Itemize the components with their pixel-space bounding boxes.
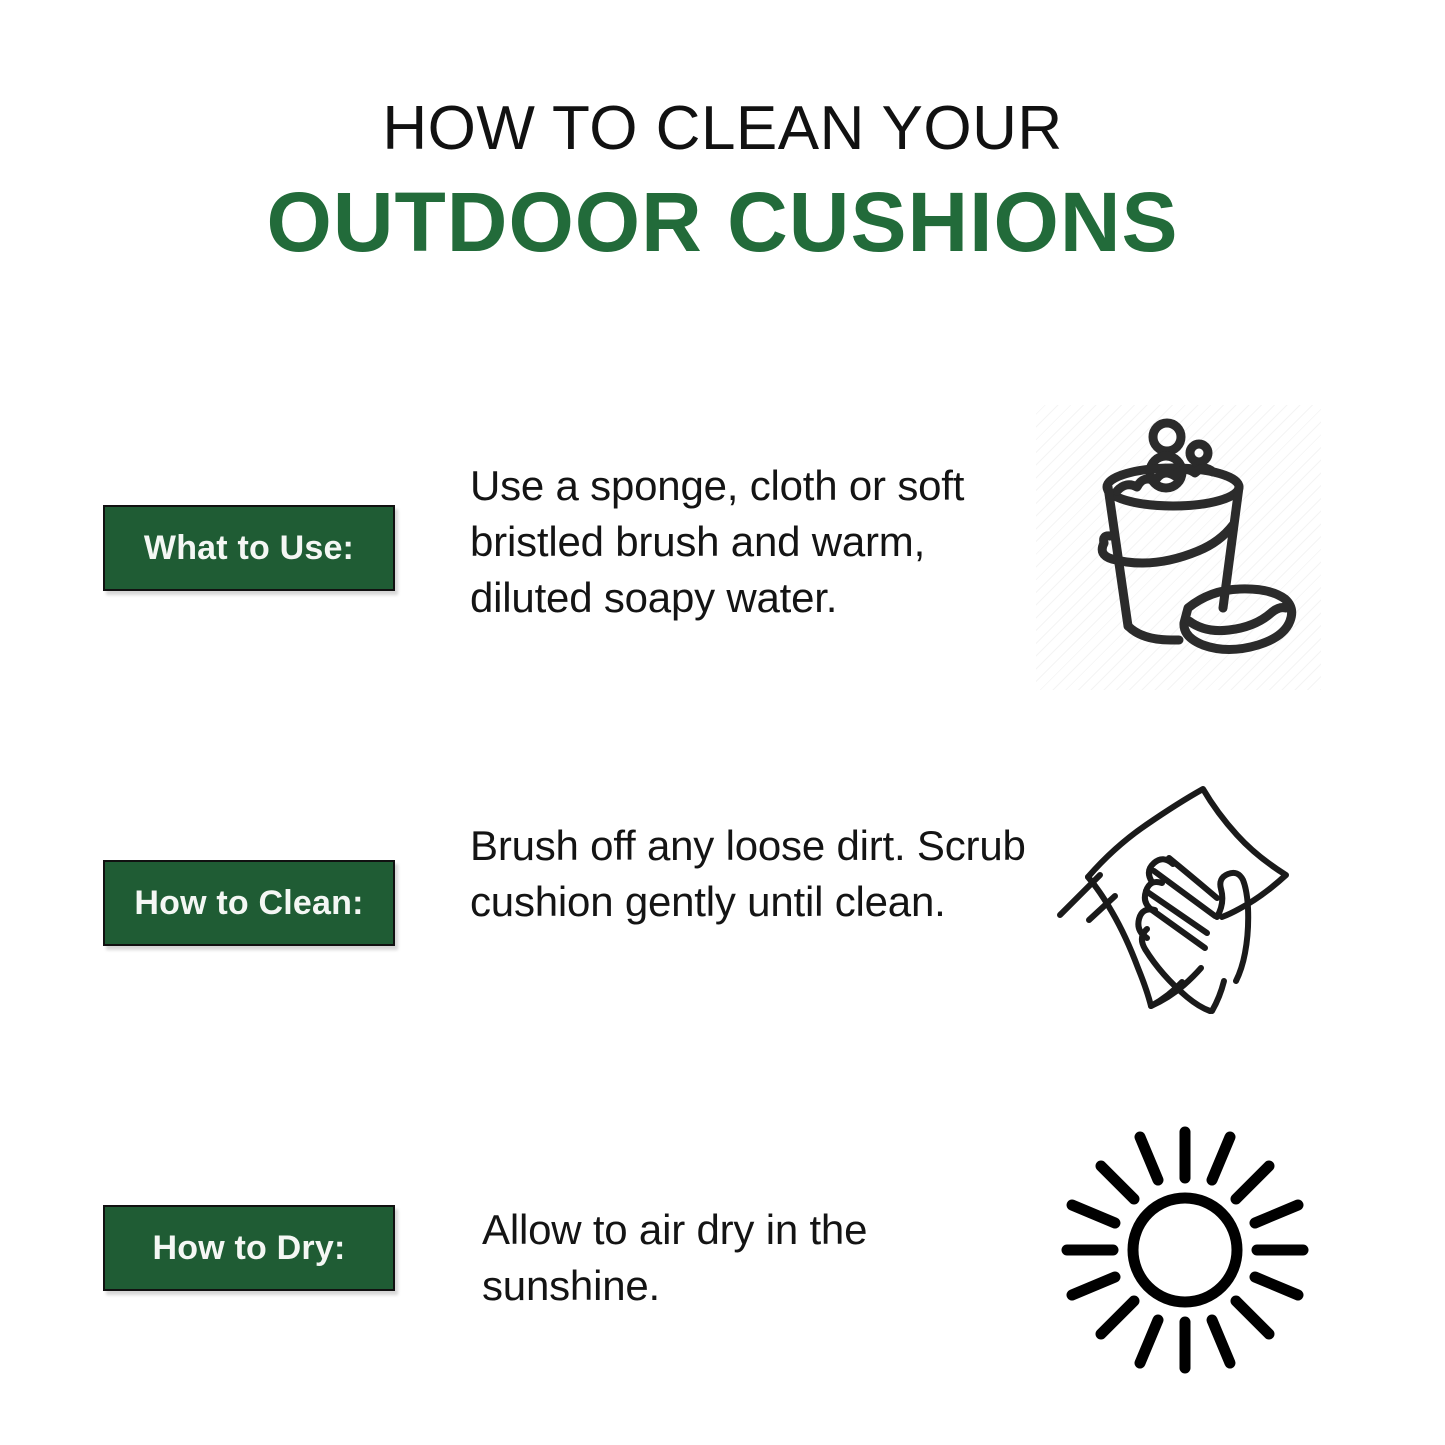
page-title: HOW TO CLEAN YOUR OUTDOOR CUSHIONS xyxy=(0,96,1445,269)
title-line-secondary: OUTDOOR CUSHIONS xyxy=(0,175,1445,269)
title-line-primary: HOW TO CLEAN YOUR xyxy=(0,96,1445,161)
body-text-what-to-use: Use a sponge, cloth or soft bristled bru… xyxy=(470,458,1030,626)
section-how-to-clean: How to Clean: Brush off any loose dirt. … xyxy=(0,760,1445,1060)
label-chip-how-to-clean[interactable]: How to Clean: xyxy=(103,860,395,946)
label-chip-how-to-dry[interactable]: How to Dry: xyxy=(103,1205,395,1291)
chip-label-text: How to Clean: xyxy=(134,884,363,923)
bucket-sponge-icon xyxy=(1055,408,1315,668)
section-how-to-dry: How to Dry: Allow to air dry in the suns… xyxy=(0,1100,1445,1400)
chip-label-text: How to Dry: xyxy=(153,1229,346,1268)
label-chip-what-to-use[interactable]: What to Use: xyxy=(103,505,395,591)
hand-wiping-cloth-icon xyxy=(1055,770,1315,1030)
body-text-how-to-clean: Brush off any loose dirt. Scrub cushion … xyxy=(470,818,1030,930)
sun-icon xyxy=(1055,1120,1315,1380)
chip-label-text: What to Use: xyxy=(144,529,354,568)
section-what-to-use: What to Use: Use a sponge, cloth or soft… xyxy=(0,400,1445,700)
body-text-how-to-dry: Allow to air dry in the sunshine. xyxy=(482,1202,1042,1314)
